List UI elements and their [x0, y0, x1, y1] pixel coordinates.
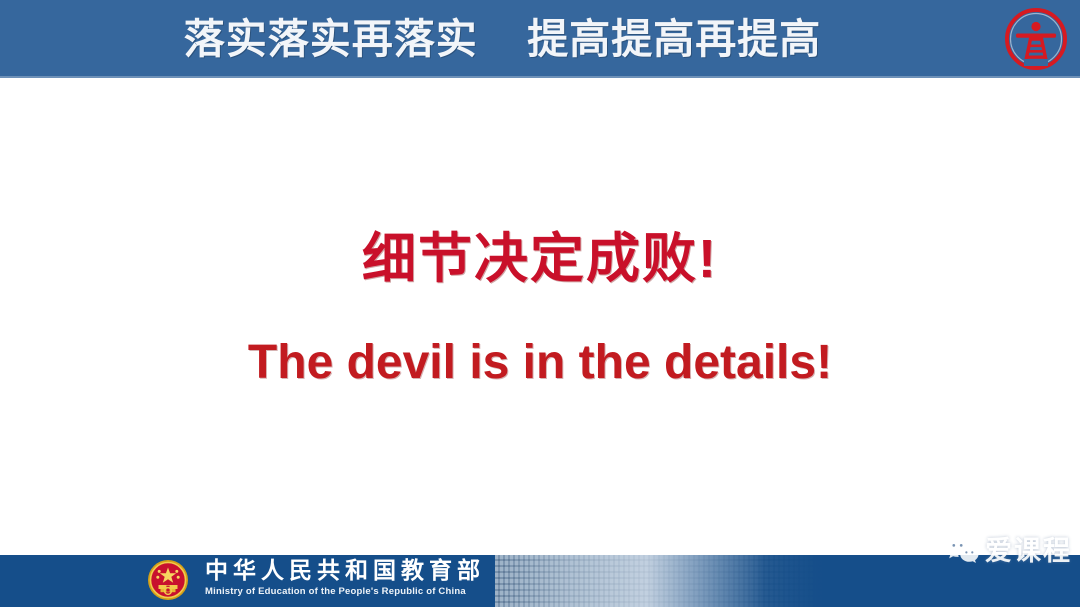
- presentation-slide: 落实落实再落实 提高提高再提高 细节决定成败!: [0, 0, 1080, 607]
- ministry-name-block: 中华人民共和国教育部 Ministry of Education of the …: [205, 558, 535, 598]
- headline-chinese: 细节决定成败!: [0, 228, 1080, 290]
- headline-english: The devil is in the details!: [0, 334, 1080, 392]
- slide-body: 细节决定成败! The devil is in the details!: [0, 78, 1080, 555]
- wechat-watermark: 爱课程: [945, 536, 1072, 566]
- header-title: 落实落实再落实 提高提高再提高: [184, 19, 822, 60]
- china-national-emblem-icon: [146, 558, 190, 602]
- wechat-watermark-label: 爱课程: [985, 538, 1072, 565]
- ministry-name-english: Ministry of Education of the People's Re…: [205, 586, 535, 597]
- header-logo: [1000, 3, 1072, 75]
- wechat-icon: [945, 536, 979, 566]
- header-title-container: 落实落实再落实 提高提高再提高: [0, 0, 985, 78]
- ministry-name-chinese: 中华人民共和国教育部: [205, 558, 535, 584]
- headline-block: 细节决定成败! The devil is in the details!: [0, 228, 1080, 392]
- slide-header-band: 落实落实再落实 提高提高再提高: [0, 0, 1080, 78]
- photo-fade-overlay: [760, 555, 940, 607]
